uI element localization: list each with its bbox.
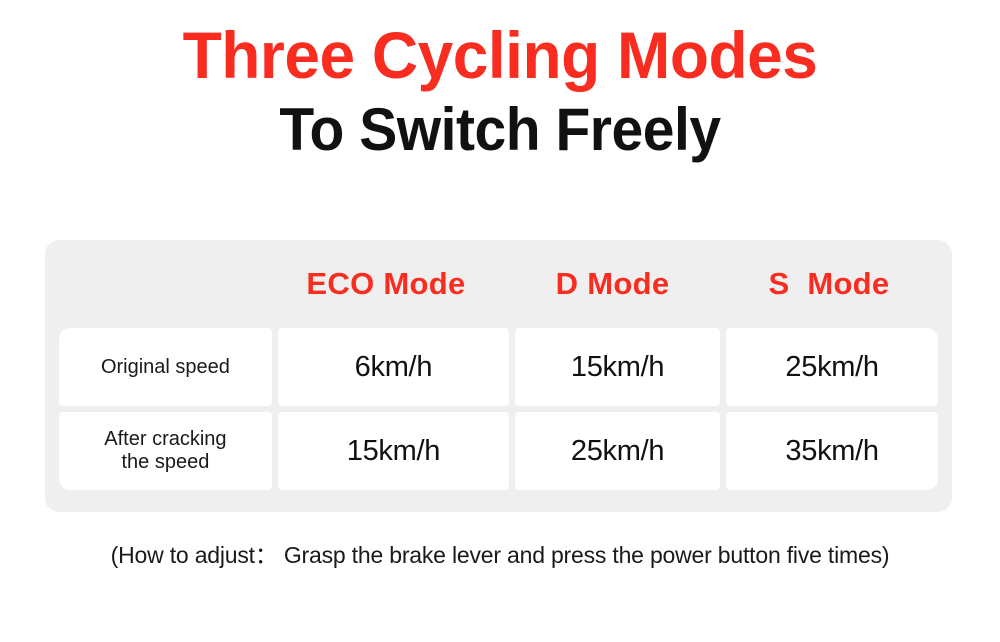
row-label-line-1: After cracking — [104, 428, 226, 450]
headline-line-primary: Three Cycling Modes — [15, 12, 985, 88]
cell-eco-cracked: 15km/h — [278, 412, 509, 490]
promo-page: Three Cycling Modes To Switch Freely ECO… — [0, 0, 1000, 642]
table-body: Original speed 6km/h 15km/h 25km/h After… — [45, 328, 952, 490]
table-header-s-mode: S Mode — [719, 266, 939, 302]
value-d-original: 15km/h — [571, 351, 664, 384]
value-s-original: 25km/h — [785, 351, 878, 384]
headline-line-secondary: To Switch Freely — [25, 92, 975, 160]
table-header-eco-mode: ECO Mode — [266, 266, 506, 302]
row-label-cell: After cracking the speed — [59, 412, 272, 490]
row-label-original-speed: Original speed — [101, 356, 230, 379]
modes-comparison-table: ECO Mode D Mode S Mode Original speed 6k… — [45, 240, 952, 512]
table-row: After cracking the speed 15km/h 25km/h 3… — [59, 412, 938, 490]
cell-s-original: 25km/h — [726, 328, 938, 406]
table-header-row: ECO Mode D Mode S Mode — [45, 240, 952, 328]
row-label-after-cracking: After cracking the speed — [104, 428, 226, 474]
table-header-d-mode: D Mode — [506, 266, 719, 302]
cell-d-original: 15km/h — [515, 328, 720, 406]
value-s-cracked: 35km/h — [785, 435, 878, 468]
value-eco-cracked: 15km/h — [347, 435, 440, 468]
value-d-cracked: 25km/h — [571, 435, 664, 468]
table-row: Original speed 6km/h 15km/h 25km/h — [59, 328, 938, 406]
cell-eco-original: 6km/h — [278, 328, 509, 406]
adjustment-instructions: (How to adjust： Grasp the brake lever an… — [0, 536, 1000, 570]
cell-s-cracked: 35km/h — [726, 412, 938, 490]
row-label-line-2: the speed — [121, 451, 209, 473]
page-title: Three Cycling Modes To Switch Freely — [0, 12, 1000, 160]
value-eco-original: 6km/h — [355, 351, 432, 384]
row-label-cell: Original speed — [59, 328, 272, 406]
cell-d-cracked: 25km/h — [515, 412, 720, 490]
